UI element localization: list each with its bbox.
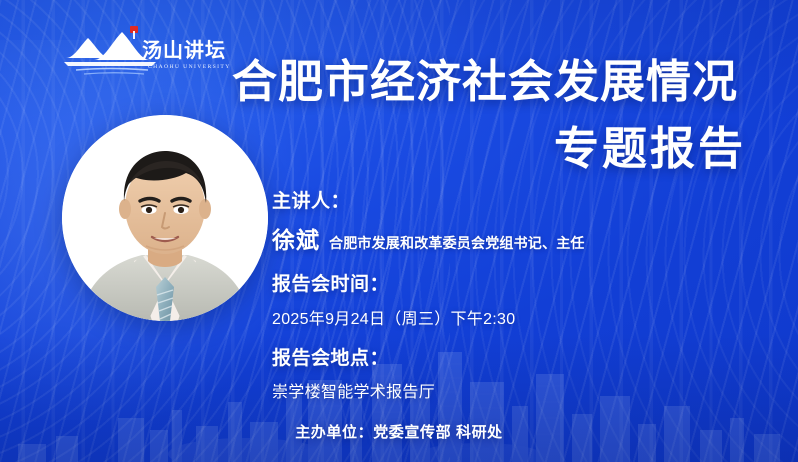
speaker-name: 徐斌 [272,221,320,255]
event-details: 主讲人： 徐斌 合肥市发展和改革委员会党组书记、主任 报告会时间： 2025年9… [272,190,772,402]
time-value: 2025年9月24日（周三）下午2:30 [272,305,772,329]
speaker-position: 合肥市发展和改革委员会党组书记、主任 [329,233,585,253]
logo-english-text: CHAOHU UNIVERSITY [148,64,231,70]
chaohu-university-logo: 汤山讲坛 CHAOHU UNIVERSITY [64,24,234,78]
time-label: 报告会时间： [272,273,772,297]
speaker-label: 主讲人： [272,190,772,214]
venue-label: 报告会地点： [272,347,772,371]
logo-chinese-text: 汤山讲坛 [142,38,226,62]
speaker-row: 徐斌 合肥市发展和改革委员会党组书记、主任 [272,221,772,255]
title-line-1: 合肥市经济社会发展情况 [232,58,772,106]
poster-title: 合肥市经济社会发展情况 专题报告 [232,58,772,172]
red-flag-icon [130,26,138,39]
organizer-footer: 主办单位：党委宣传部 科研处 [0,421,798,442]
venue-value: 崇学楼智能学术报告厅 [272,378,772,402]
svg-text:汤山讲坛: 汤山讲坛 [142,38,226,62]
event-poster: 汤山讲坛 CHAOHU UNIVERSITY [0,0,798,462]
title-line-2: 专题报告 [232,125,772,173]
